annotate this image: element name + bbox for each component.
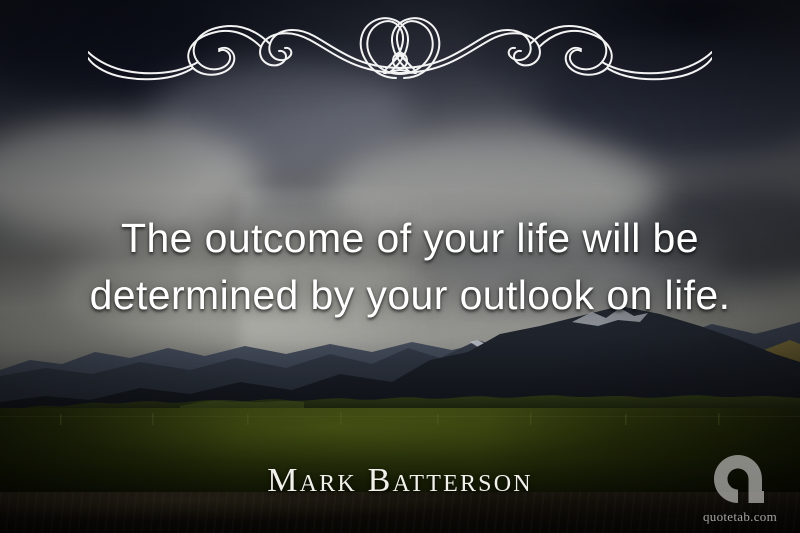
watermark[interactable]: quotetab.com [694,453,786,525]
quotetab-logo-icon [712,453,768,507]
watermark-site-label: quotetab.com [694,509,786,525]
author-name: Mark Batterson [0,462,800,500]
decorative-flourish-icon [88,12,712,84]
quote-image: The outcome of your life will be determi… [0,0,800,533]
fence-line [0,412,800,432]
quote-text: The outcome of your life will be determi… [60,210,760,324]
